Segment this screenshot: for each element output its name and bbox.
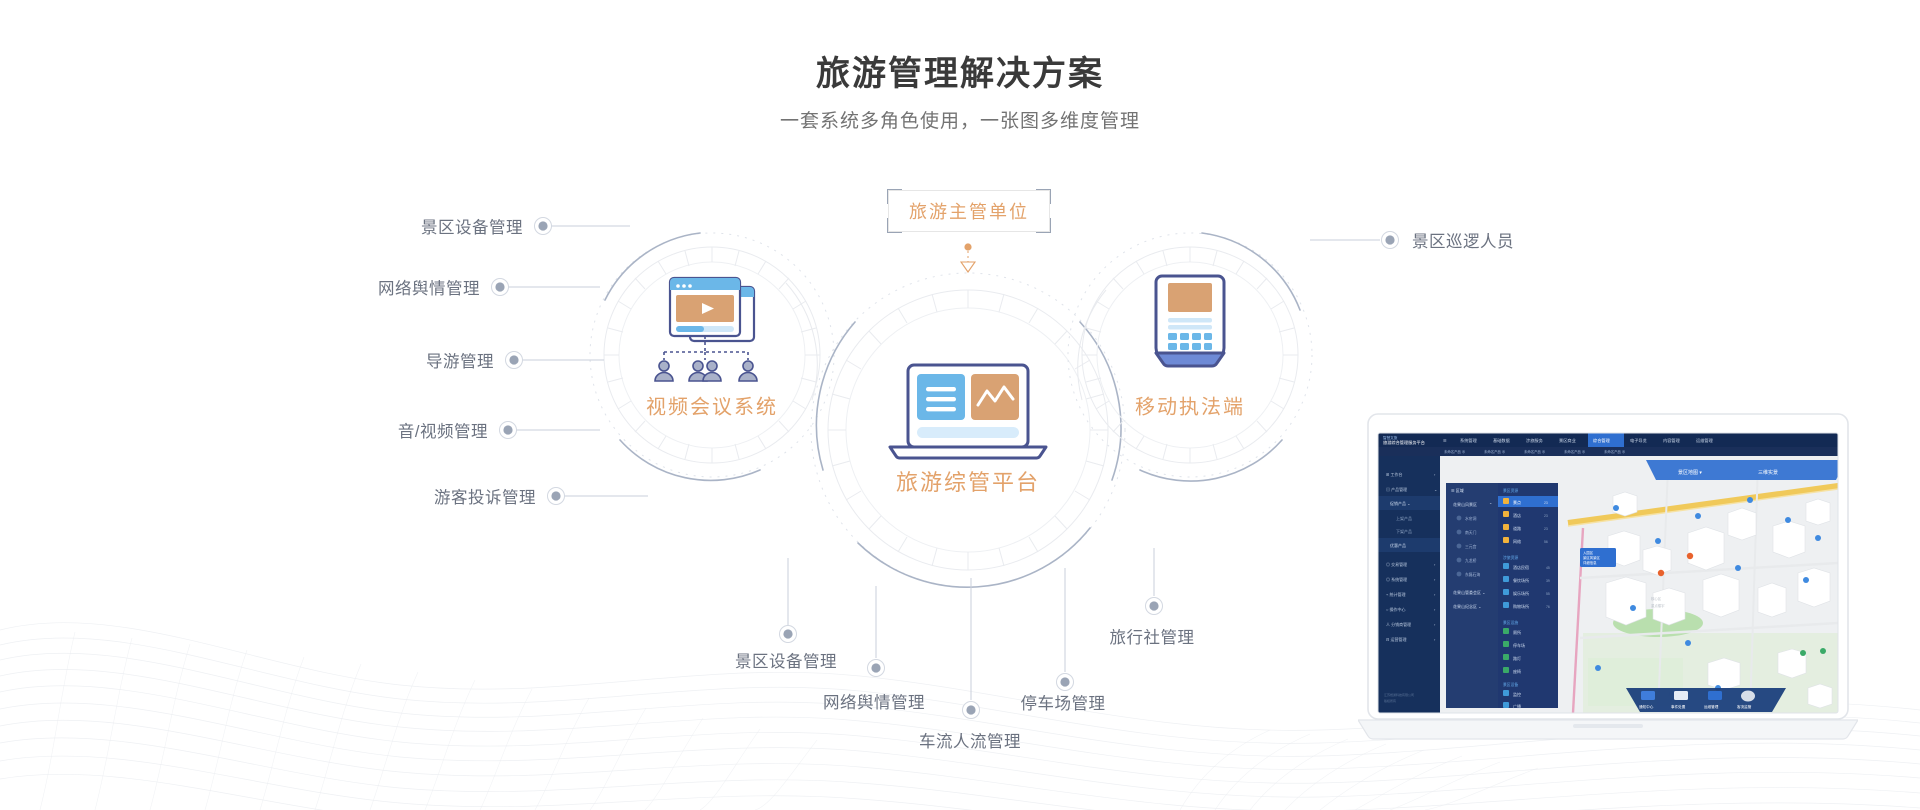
node-caption-platform: 旅游综管平台 bbox=[896, 465, 1040, 497]
svg-text:景区设施: 景区设施 bbox=[1503, 620, 1518, 625]
node-caption-mobile: 移动执法端 bbox=[1135, 391, 1245, 420]
bottom-connectors bbox=[788, 548, 1154, 700]
svg-text:详细信息: 详细信息 bbox=[1583, 560, 1597, 565]
svg-text:☰: ☰ bbox=[1443, 438, 1447, 443]
svg-text:监控: 监控 bbox=[1513, 691, 1521, 697]
svg-text:上架产品: 上架产品 bbox=[1396, 515, 1412, 521]
svg-text:购物场所: 购物场所 bbox=[1513, 603, 1529, 609]
svg-text:涉旅服务: 涉旅服务 bbox=[1526, 437, 1544, 444]
svg-text:景点: 景点 bbox=[1513, 499, 1521, 505]
left-label-3[interactable]: 导游管理 bbox=[426, 348, 494, 372]
svg-text:⌃: ⌃ bbox=[1489, 502, 1492, 507]
svg-text:景区风景区: 景区风景区 bbox=[1583, 555, 1601, 560]
svg-text:核心区: 核心区 bbox=[1651, 596, 1662, 601]
svg-text:路灯: 路灯 bbox=[1513, 655, 1521, 661]
svg-text:江苏燃通科技有限公司: 江苏燃通科技有限公司 bbox=[1384, 692, 1414, 697]
svg-text:网络: 网络 bbox=[1513, 538, 1521, 544]
svg-text:39: 39 bbox=[1546, 579, 1550, 583]
left-label-5[interactable]: 游客投诉管理 bbox=[434, 484, 536, 508]
svg-text:电子导览: 电子导览 bbox=[1630, 437, 1647, 444]
svg-text:45: 45 bbox=[1546, 566, 1550, 570]
left-label-4[interactable]: 音/视频管理 bbox=[398, 418, 488, 442]
svg-text:停车场: 停车场 bbox=[1513, 642, 1525, 648]
svg-text:系统管理: 系统管理 bbox=[1460, 437, 1478, 444]
svg-text:未命名产品 ⊗: 未命名产品 ⊗ bbox=[1524, 449, 1545, 454]
svg-text:◎ 交易管理: ◎ 交易管理 bbox=[1386, 561, 1407, 567]
svg-text:景区设备: 景区设备 bbox=[1503, 682, 1518, 687]
right-label-1[interactable]: 景区巡逻人员 bbox=[1412, 228, 1514, 252]
svg-text:◎ 系统管理: ◎ 系统管理 bbox=[1386, 576, 1407, 582]
right-connectors bbox=[1310, 232, 1399, 249]
svg-text:未命名产品 ⊗: 未命名产品 ⊗ bbox=[1604, 449, 1625, 454]
svg-text:运维管理: 运维管理 bbox=[1704, 704, 1719, 709]
svg-text:酒店: 酒店 bbox=[1513, 512, 1521, 518]
svg-text:座椅: 座椅 bbox=[1513, 668, 1521, 674]
svg-text:广播: 广播 bbox=[1513, 703, 1521, 709]
bottom-label-3[interactable]: 车流人流管理 bbox=[919, 728, 1021, 752]
svg-text:客流监管: 客流监管 bbox=[1737, 704, 1752, 709]
laptop-screen: 核心区重点楼宇 上海世博会纪念展 景区地图 ▾ 三维实景 入园区 景区风景区 详… bbox=[1378, 433, 1846, 713]
ring-video bbox=[590, 233, 834, 480]
bottom-label-2[interactable]: 网络舆情管理 bbox=[823, 689, 925, 713]
svg-text:未命名产品 ⊗: 未命名产品 ⊗ bbox=[1484, 449, 1505, 454]
svg-text:重点楼宇: 重点楼宇 bbox=[1651, 603, 1665, 608]
svg-text:餐饮场所: 餐饮场所 bbox=[1513, 577, 1529, 583]
svg-text:东磊石海: 东磊石海 bbox=[1465, 572, 1480, 577]
svg-text:55: 55 bbox=[1546, 592, 1550, 596]
svg-text:酒店民宿: 酒店民宿 bbox=[1513, 564, 1529, 570]
bottom-label-1[interactable]: 景区设备管理 bbox=[735, 648, 837, 672]
svg-text:事件处置: 事件处置 bbox=[1671, 704, 1686, 709]
svg-text:○ 操作中心: ○ 操作中心 bbox=[1386, 606, 1406, 612]
svg-text:花果山风景区: 花果山风景区 bbox=[1453, 501, 1477, 507]
svg-text:⌁ 统计管理: ⌁ 统计管理 bbox=[1386, 591, 1406, 597]
svg-text:花果山纪念区 ⌄: 花果山纪念区 ⌄ bbox=[1453, 603, 1481, 609]
svg-text:76: 76 bbox=[1546, 605, 1550, 609]
svg-text:九龙桥: 九龙桥 bbox=[1465, 558, 1477, 563]
left-label-1[interactable]: 景区设备管理 bbox=[421, 214, 523, 238]
badge-connector bbox=[961, 243, 975, 272]
svg-text:人 分销商管理: 人 分销商管理 bbox=[1386, 621, 1411, 627]
svg-text:涉旅资源: 涉旅资源 bbox=[1503, 555, 1518, 560]
svg-text:旅游综合管理服务平台: 旅游综合管理服务平台 bbox=[1383, 439, 1425, 446]
svg-text:⊞ 工作台: ⊞ 工作台 bbox=[1386, 471, 1402, 477]
left-label-2[interactable]: 网络舆情管理 bbox=[378, 275, 480, 299]
poster-canvas: 旅游管理解决方案 一套系统多角色使用，一张图多维度管理 bbox=[0, 0, 1920, 810]
svg-text:景区地图 ▾: 景区地图 ▾ bbox=[1678, 469, 1702, 476]
svg-text:23: 23 bbox=[1544, 527, 1548, 531]
svg-text:三维实景: 三维实景 bbox=[1758, 469, 1778, 476]
svg-text:☰ 区域: ☰ 区域 bbox=[1451, 487, 1464, 493]
laptop-dashboard-icon bbox=[890, 365, 1046, 458]
svg-text:花果山管委会区 ⌄: 花果山管委会区 ⌄ bbox=[1453, 589, 1485, 595]
svg-text:水帘洞: 水帘洞 bbox=[1465, 516, 1477, 521]
node-caption-video: 视频会议系统 bbox=[646, 391, 778, 420]
svg-text:景区资源: 景区资源 bbox=[1503, 488, 1518, 493]
svg-text:南天门: 南天门 bbox=[1465, 530, 1477, 535]
bottom-label-4[interactable]: 停车场管理 bbox=[1021, 690, 1106, 714]
laptop-mockup: 核心区重点楼宇 上海世博会纪念展 景区地图 ▾ 三维实景 入园区 景区风景区 详… bbox=[1358, 408, 1858, 753]
left-connector-dots bbox=[492, 218, 565, 505]
svg-text:厕所: 厕所 bbox=[1513, 629, 1521, 635]
svg-text:娱乐场所: 娱乐场所 bbox=[1513, 590, 1529, 596]
svg-text:促销产品 ⌄: 促销产品 ⌄ bbox=[1390, 500, 1410, 506]
svg-text:通知中心: 通知中心 bbox=[1639, 704, 1654, 709]
svg-text:综合管理: 综合管理 bbox=[1593, 437, 1611, 444]
svg-text:23: 23 bbox=[1544, 514, 1548, 518]
video-window-icon bbox=[655, 278, 757, 381]
svg-text:▤ 产品管理: ▤ 产品管理 bbox=[1386, 486, 1407, 492]
svg-text:⌄: ⌄ bbox=[1434, 487, 1437, 492]
svg-text:优惠产品: 优惠产品 bbox=[1390, 542, 1406, 548]
svg-text:三元宫: 三元宫 bbox=[1465, 544, 1477, 549]
svg-text:23: 23 bbox=[1544, 501, 1548, 505]
svg-text:下架产品: 下架产品 bbox=[1396, 528, 1412, 534]
svg-text:版权所有: 版权所有 bbox=[1384, 698, 1396, 703]
svg-text:56: 56 bbox=[1544, 540, 1548, 544]
svg-text:未命名产品 ⊗: 未命名产品 ⊗ bbox=[1564, 449, 1585, 454]
handheld-terminal-icon bbox=[1156, 276, 1224, 366]
svg-text:景区商业: 景区商业 bbox=[1559, 437, 1576, 444]
svg-text:内容管理: 内容管理 bbox=[1663, 437, 1681, 444]
badge-label: 旅游主管单位 bbox=[888, 190, 1050, 232]
authority-badge[interactable]: 旅游主管单位 bbox=[888, 190, 1050, 232]
svg-text:运维管理: 运维管理 bbox=[1696, 437, 1714, 444]
left-connectors bbox=[506, 226, 648, 496]
svg-text:道路: 道路 bbox=[1513, 525, 1521, 531]
svg-text:未命名产品 ⊗: 未命名产品 ⊗ bbox=[1444, 449, 1465, 454]
svg-text:入园区: 入园区 bbox=[1583, 550, 1594, 555]
svg-text:⊟ 运营管理: ⊟ 运营管理 bbox=[1386, 636, 1406, 642]
bottom-label-5[interactable]: 旅行社管理 bbox=[1110, 624, 1195, 648]
svg-text:基础数据: 基础数据 bbox=[1493, 437, 1510, 444]
